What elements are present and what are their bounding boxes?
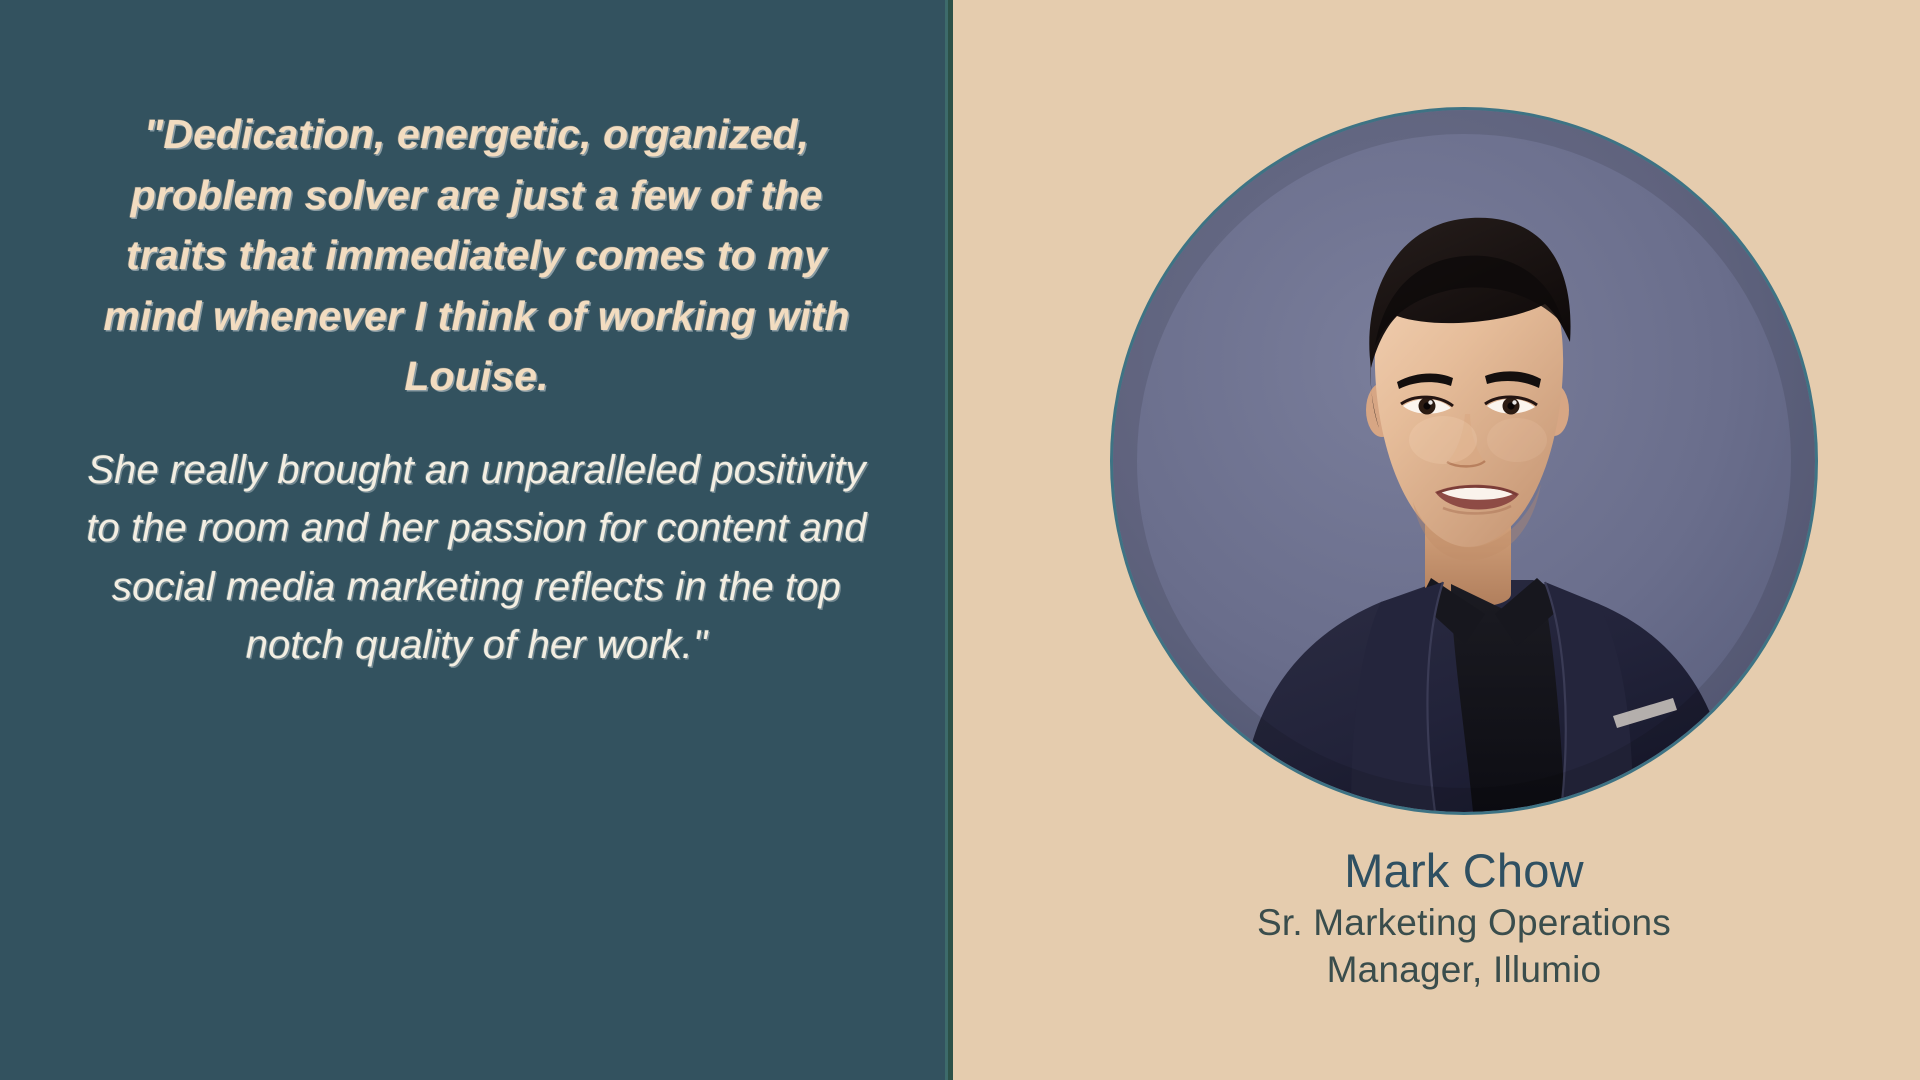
quote-panel: "Dedication, energetic, organized, probl… <box>0 0 953 1080</box>
person-meta: Mark Chow Sr. Marketing Operations Manag… <box>1113 842 1815 993</box>
quote-primary-text: "Dedication, energetic, organized, probl… <box>82 104 872 407</box>
person-name: Mark Chow <box>1113 842 1815 899</box>
person-panel: Mark Chow Sr. Marketing Operations Manag… <box>953 0 1920 1080</box>
quote-secondary-text: She really brought an unparalleled posit… <box>82 407 872 675</box>
portrait-photo-icon <box>1113 110 1815 812</box>
avatar <box>1113 110 1815 812</box>
quote-text-block: "Dedication, energetic, organized, probl… <box>82 0 872 675</box>
person-title-line-2: Manager, Illumio <box>1113 946 1815 993</box>
person-title-line-1: Sr. Marketing Operations <box>1113 899 1815 946</box>
testimonial-slide: "Dedication, energetic, organized, probl… <box>0 0 1920 1080</box>
